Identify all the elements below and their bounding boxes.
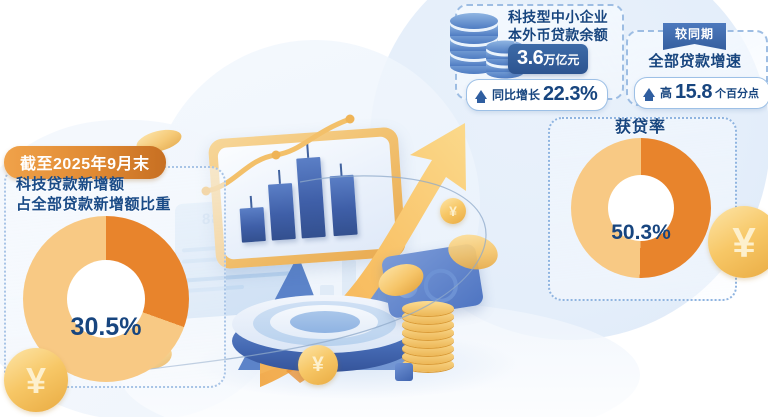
- pts-prefix: 高: [660, 84, 672, 101]
- up-arrow-icon: [643, 88, 655, 97]
- sme-card-title-line1: 科技型中小企业: [508, 8, 628, 26]
- donut-chart-approval-rate: 50.3%: [571, 138, 711, 278]
- left-panel-title-line1: 科技贷款新增额: [16, 175, 171, 195]
- all-loan-growth-title: 全部贷款增速: [626, 50, 764, 71]
- yen-coin-icon-bottom-left: ¥: [4, 348, 68, 412]
- right-panel-title: 获贷率: [548, 113, 733, 137]
- sme-card-title-line2: 本外币贷款余额: [508, 26, 628, 44]
- yen-coin-icon: ¥: [440, 198, 466, 224]
- loan-balance-unit: 万亿元: [543, 53, 579, 67]
- pts-suffix: 个百分点: [715, 85, 759, 101]
- yoy-growth-value: 22.3%: [543, 83, 597, 106]
- loan-balance-amount-badge: 3.6万亿元: [508, 44, 588, 74]
- up-arrow-icon: [475, 90, 487, 99]
- left-panel-title: 科技贷款新增额 占全部贷款新增额比重: [16, 175, 171, 215]
- infographic-canvas: 8888: [0, 0, 768, 417]
- sme-card-title: 科技型中小企业 本外币贷款余额: [508, 8, 628, 44]
- pts-value: 15.8: [675, 81, 712, 104]
- yoy-growth-pill: 同比增长 22.3%: [466, 79, 608, 111]
- percentage-point-pill: 高 15.8 个百分点: [634, 77, 768, 109]
- loan-balance-value: 3.6: [517, 47, 543, 69]
- left-panel-title-line2: 占全部贷款新增额比重: [16, 195, 171, 215]
- yoy-growth-label: 同比增长: [492, 86, 540, 103]
- donut-value-label: 50.3%: [571, 221, 711, 245]
- donut-value-label: 30.5%: [23, 313, 189, 342]
